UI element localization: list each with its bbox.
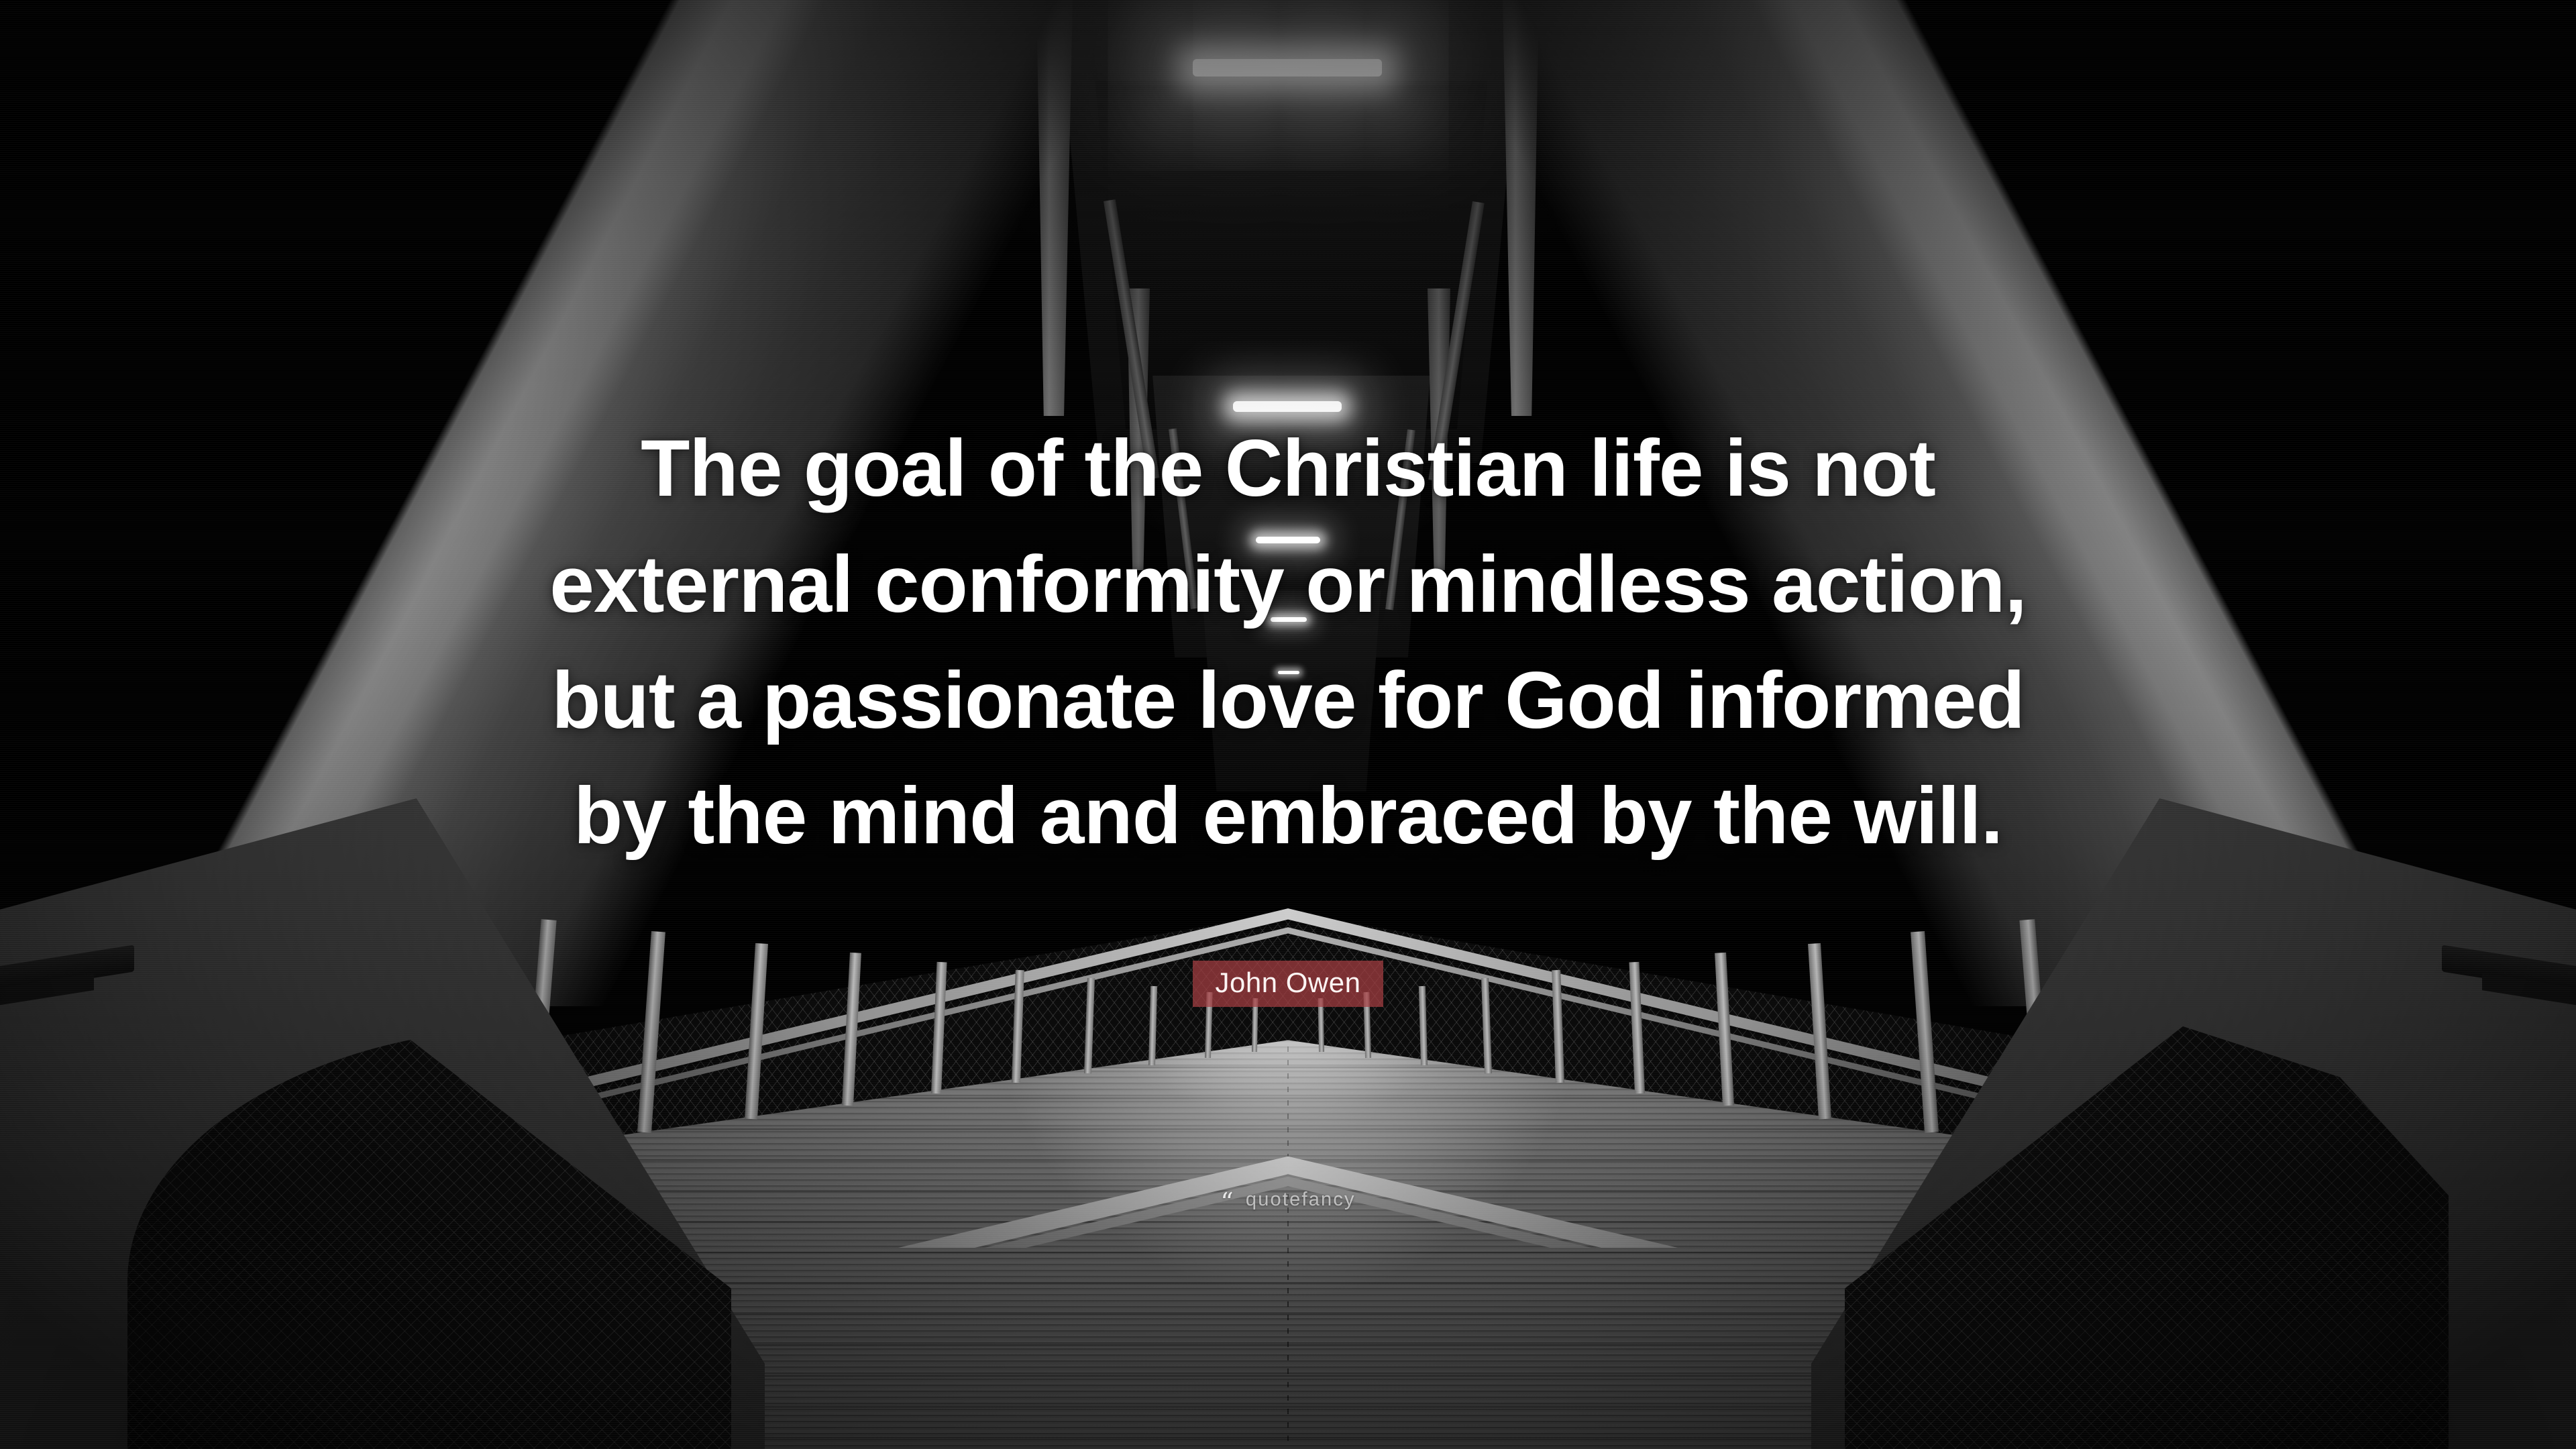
quote-poster: The goal of the Christian life is not ex… <box>0 0 2576 1449</box>
quote-line-2: external conformity or mindless action, <box>215 527 2361 643</box>
content-overlay: The goal of the Christian life is not ex… <box>0 0 2576 1449</box>
quote-line-4: by the mind and embraced by the will. <box>215 758 2361 874</box>
author-row: John Owen <box>0 961 2576 1007</box>
author-badge[interactable]: John Owen <box>1193 961 1384 1007</box>
quote-mark-icon: “ <box>1220 1195 1235 1210</box>
quote-line-1: The goal of the Christian life is not <box>215 411 2361 527</box>
quote-text: The goal of the Christian life is not ex… <box>0 411 2576 874</box>
quote-line-3: but a passionate love for God informed <box>215 643 2361 759</box>
watermark[interactable]: “ quotefancy <box>0 1189 2576 1211</box>
watermark-label: quotefancy <box>1246 1189 1356 1211</box>
